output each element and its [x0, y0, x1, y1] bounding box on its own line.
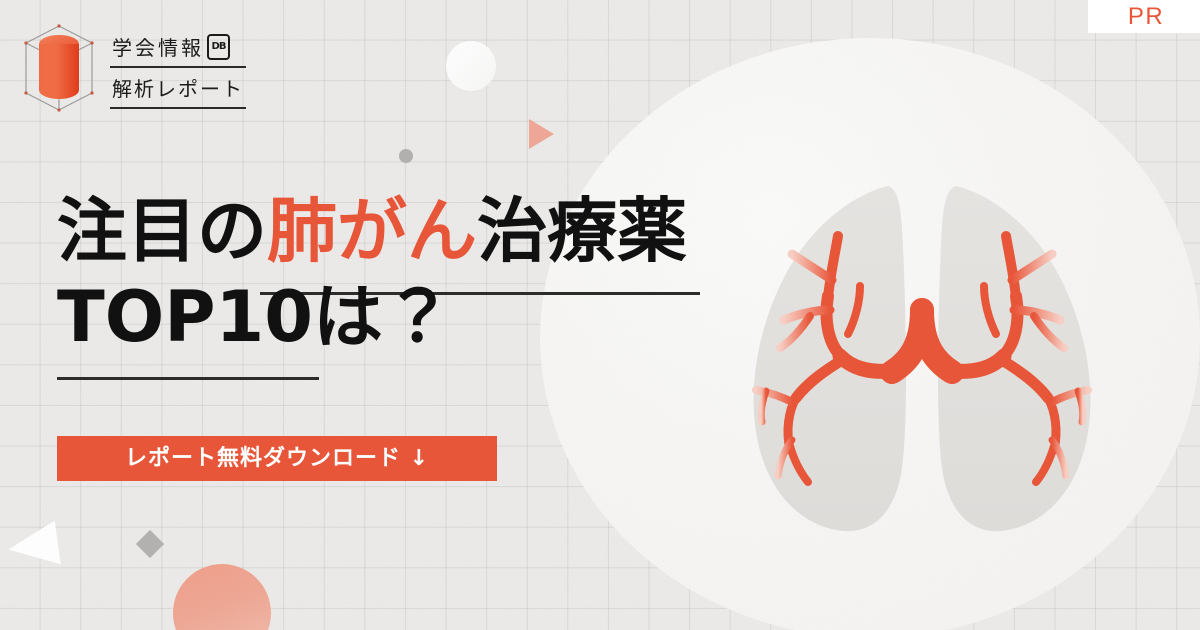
headline-line-1-post: 治療薬 [477, 190, 687, 272]
brand-logo-text: 学会情報 DB 解析レポート [110, 27, 246, 109]
brand-logo-line-2: 解析レポート [110, 70, 246, 109]
promo-banner: PR [0, 0, 1200, 630]
headline-line-2: TOP10は？ [57, 282, 777, 368]
db-chip-icon: DB [207, 34, 230, 60]
headline-line-2-strong: TOP10 [57, 276, 313, 358]
download-report-button-label: レポート無料ダウンロード ↓ [125, 448, 429, 470]
brand-logo-line-1: 学会情報 DB [110, 29, 246, 68]
headline: 注目の肺がん治療薬 TOP10は？ [57, 196, 777, 368]
pr-badge: PR [1088, 0, 1200, 33]
brand-logo-line-1-label: 学会情報 [112, 32, 204, 61]
brand-logo[interactable]: 学会情報 DB 解析レポート [22, 22, 246, 114]
headline-line-1-pre: 注目の [57, 190, 267, 272]
headline-line-2-tail: は？ [313, 276, 453, 358]
headline-line-1: 注目の肺がん治療薬 [57, 196, 777, 282]
cylinder-in-cube-icon [22, 22, 96, 114]
brand-logo-line-2-label: 解析レポート [112, 73, 244, 102]
headline-underline-2 [57, 377, 319, 380]
pr-badge-label: PR [1124, 5, 1164, 29]
download-report-button[interactable]: レポート無料ダウンロード ↓ [57, 436, 497, 481]
lungs-illustration [736, 150, 1108, 560]
headline-line-1-accent: 肺がん [267, 190, 477, 272]
